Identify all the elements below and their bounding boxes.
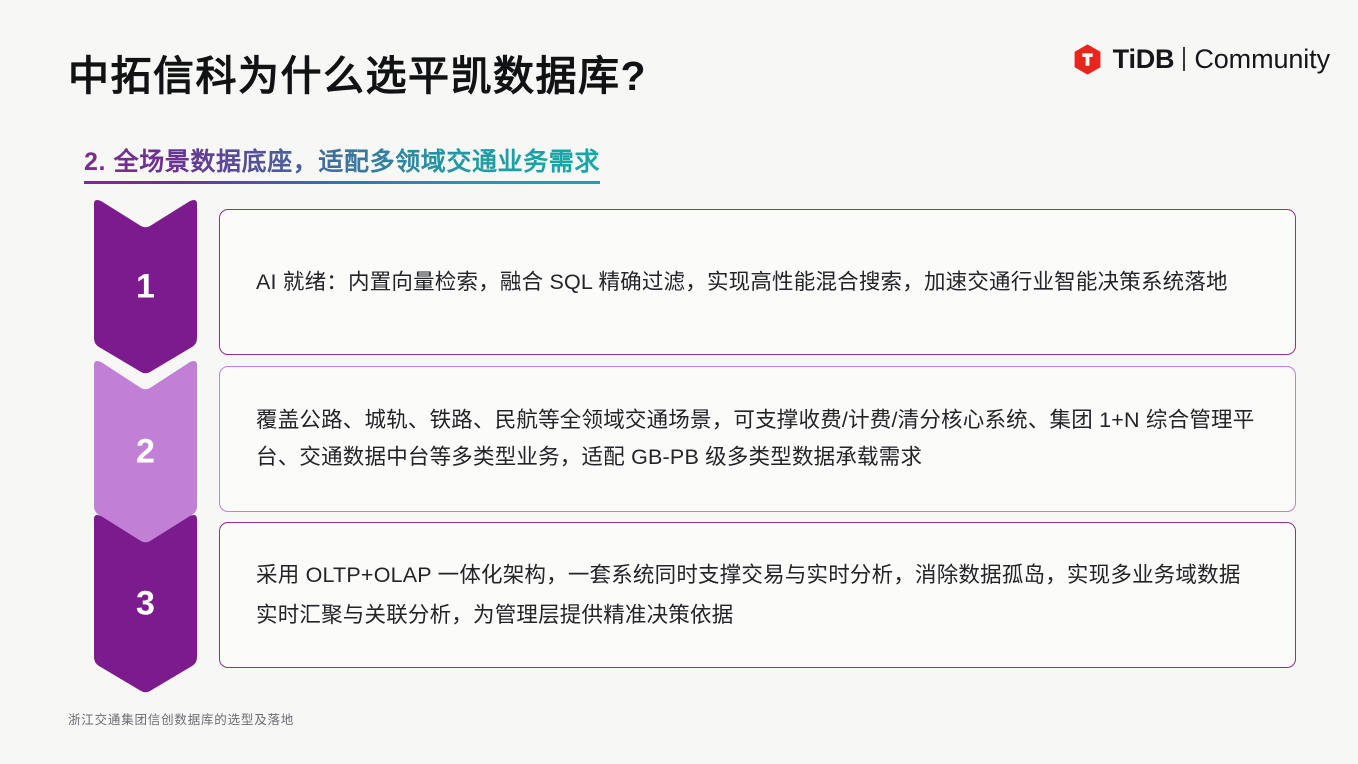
brand-wordmark: TiDB Community (1113, 46, 1330, 73)
tidb-community-logo: TiDB Community (1071, 40, 1330, 78)
brand-separator-icon (1183, 47, 1185, 71)
list-item: 3 采用 OLTP+OLAP 一体化架构，一套系统同时支撑交易与实时分析，消除数… (86, 522, 1296, 668)
brand-name: TiDB (1113, 46, 1175, 73)
step-badge-number: 1 (86, 269, 205, 303)
section-subtitle-text: 2. 全场景数据底座，适配多领域交通业务需求 (84, 147, 600, 183)
feature-card-3: 采用 OLTP+OLAP 一体化架构，一套系统同时支撑交易与实时分析，消除数据孤… (219, 522, 1296, 668)
feature-card-text: 采用 OLTP+OLAP 一体化架构，一套系统同时支撑交易与实时分析，消除数据孤… (256, 555, 1261, 636)
step-badge-3: 3 (86, 513, 205, 695)
list-item: 1 AI 就绪：内置向量检索，融合 SQL 精确过滤，实现高性能混合搜索，加速交… (86, 209, 1296, 355)
feature-card-1: AI 就绪：内置向量检索，融合 SQL 精确过滤，实现高性能混合搜索，加速交通行… (219, 209, 1296, 355)
slide-footer: 浙江交通集团信创数据库的选型及落地 (68, 712, 294, 728)
list-item: 2 覆盖公路、城轨、铁路、民航等全领域交通场景，可支撑收费/计费/清分核心系统、… (86, 366, 1296, 512)
step-badge-1: 1 (86, 198, 205, 376)
feature-card-text: AI 就绪：内置向量检索，融合 SQL 精确过滤，实现高性能混合搜索，加速交通行… (256, 262, 1261, 302)
section-subtitle: 2. 全场景数据底座，适配多领域交通业务需求 (84, 147, 600, 184)
page-title: 中拓信科为什么选平凯数据库? (68, 52, 647, 101)
brand-community-label: Community (1194, 46, 1330, 73)
slide-root: TiDB Community 中拓信科为什么选平凯数据库? 2. 全场景数据底座… (0, 0, 1358, 764)
step-badge-number: 2 (86, 434, 205, 468)
tidb-hexagon-logo-icon (1071, 43, 1104, 76)
step-badge-number: 3 (86, 586, 205, 620)
feature-card-text: 覆盖公路、城轨、铁路、民航等全领域交通场景，可支撑收费/计费/清分核心系统、集团… (256, 402, 1261, 476)
feature-card-2: 覆盖公路、城轨、铁路、民航等全领域交通场景，可支撑收费/计费/清分核心系统、集团… (219, 366, 1296, 512)
section-subtitle-underline (84, 181, 600, 184)
